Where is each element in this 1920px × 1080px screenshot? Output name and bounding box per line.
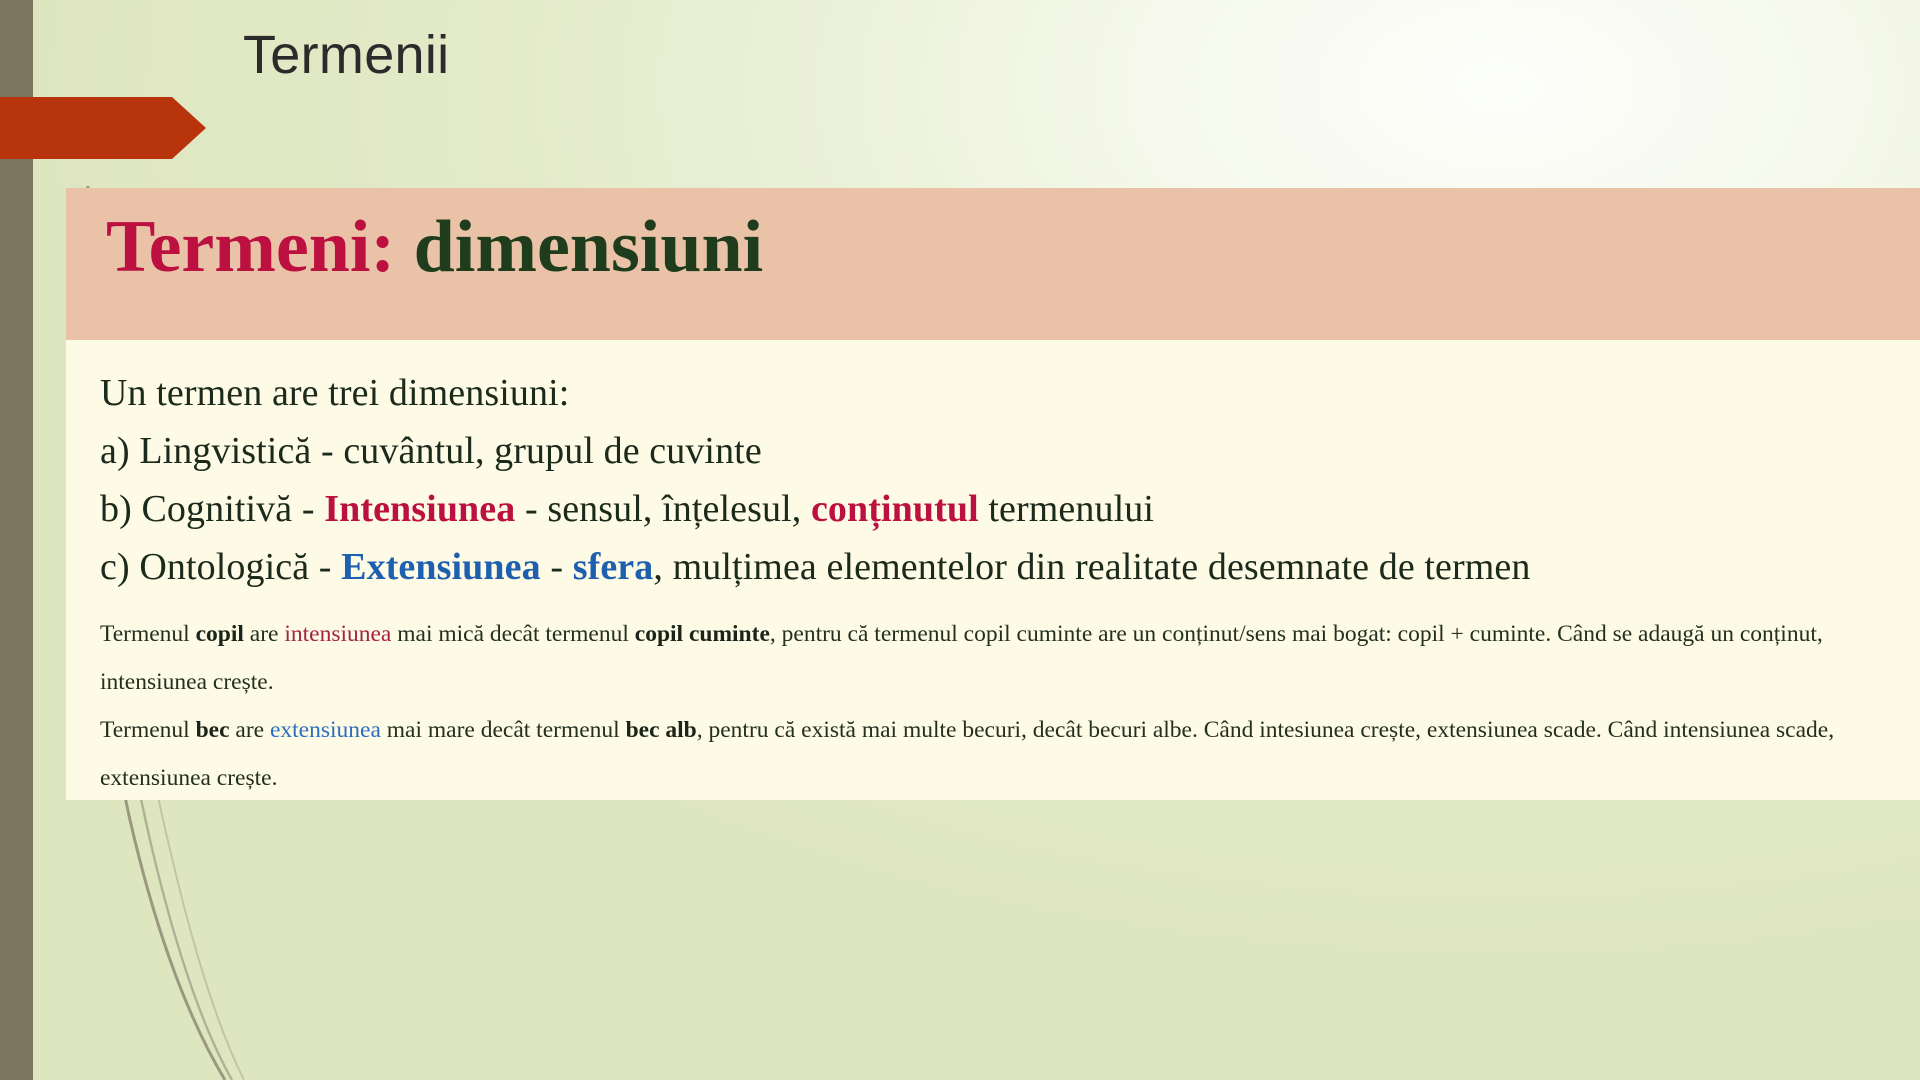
note1-bold-copil-cuminte: copil cuminte (635, 621, 770, 647)
point-b-emphasis-intensiunea: Intensiunea (324, 488, 515, 530)
point-c: c) Ontologică - Extensiunea - sfera, mul… (100, 538, 1920, 596)
point-a: a) Lingvistică - cuvântul, grupul de cuv… (100, 422, 1920, 480)
point-b-part2: - sensul, înțelesul, (515, 488, 811, 530)
page-title: Termenii (243, 28, 449, 82)
point-c-part2: - (541, 546, 573, 588)
red-arrow-banner (0, 97, 206, 159)
note2-blue-extensiunea: extensiunea (270, 717, 381, 743)
point-b-emphasis-continutul: conținutul (811, 488, 979, 530)
note1-a: Termenul (100, 621, 196, 647)
note1-red-intensiunea: intensiunea (284, 621, 391, 647)
note2-d: mai mare decât termenul (381, 717, 626, 743)
card-header: Termeni: dimensiuni (66, 188, 1920, 340)
point-c-part1: c) Ontologică - (100, 546, 341, 588)
point-c-part3: , mulțimea elementelor din realitate des… (653, 546, 1530, 588)
point-a-text: a) Lingvistică - cuvântul, grupul de cuv… (100, 430, 762, 472)
note2-bold-bec-alb: bec alb (626, 717, 697, 743)
left-accent-bar (0, 0, 33, 1080)
card-title: Termeni: dimensiuni (106, 205, 763, 290)
card-body: Un termen are trei dimensiuni: a) Lingvi… (66, 340, 1920, 802)
note-paragraph-2: Termenul bec are extensiunea mai mare de… (100, 706, 1890, 802)
note2-c: are (230, 717, 270, 743)
point-c-emphasis-extensiunea: Extensiunea (341, 546, 541, 588)
card-title-green: dimensiuni (395, 206, 763, 288)
intro-text: Un termen are trei dimensiuni: (100, 372, 569, 414)
note-paragraph-1: Termenul copil are intensiunea mai mică … (100, 610, 1890, 706)
note2-a: Termenul (100, 717, 196, 743)
point-b: b) Cognitivă - Intensiunea - sensul, înț… (100, 480, 1920, 538)
intro-line: Un termen are trei dimensiuni: (100, 364, 1920, 422)
card-title-red: Termeni: (106, 206, 395, 288)
point-b-part3: termenului (979, 488, 1154, 530)
note1-bold-copil: copil (196, 621, 244, 647)
notes-block: Termenul copil are intensiunea mai mică … (100, 610, 1890, 802)
point-b-part1: b) Cognitivă - (100, 488, 324, 530)
note1-d: mai mică decât termenul (391, 621, 634, 647)
slide-canvas: Termenii Termeni: dimensiuni Un termen a… (0, 0, 1920, 1080)
content-card: Termeni: dimensiuni Un termen are trei d… (66, 188, 1920, 800)
note2-bold-bec: bec (196, 717, 230, 743)
note1-c: are (244, 621, 284, 647)
point-c-emphasis-sfera: sfera (573, 546, 654, 588)
